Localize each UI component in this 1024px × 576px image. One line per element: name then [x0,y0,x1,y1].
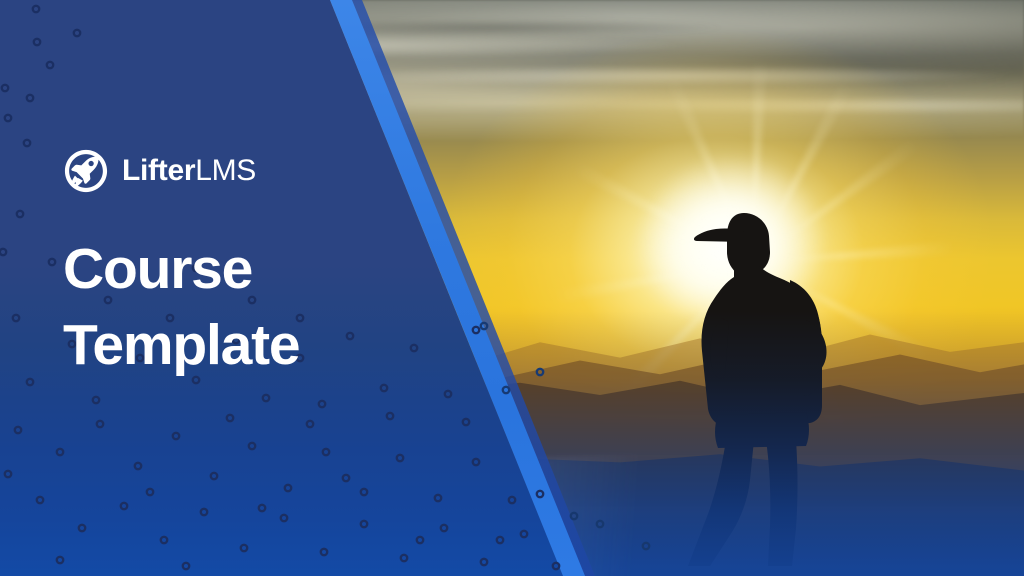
title-line-1: Course [63,232,483,308]
brand-name-bold: Lifter [122,154,195,187]
course-template-banner: LifterLMS Course Template [0,0,1024,576]
brand-wordmark: LifterLMS [122,156,256,186]
banner-content: LifterLMS Course Template [63,148,483,422]
page-title: Course Template [63,232,483,384]
title-line-2: Template [63,308,483,384]
rocket-in-circle-icon [63,148,109,194]
brand-name-light: LMS [195,154,256,187]
brand-logo[interactable]: LifterLMS [63,148,483,194]
